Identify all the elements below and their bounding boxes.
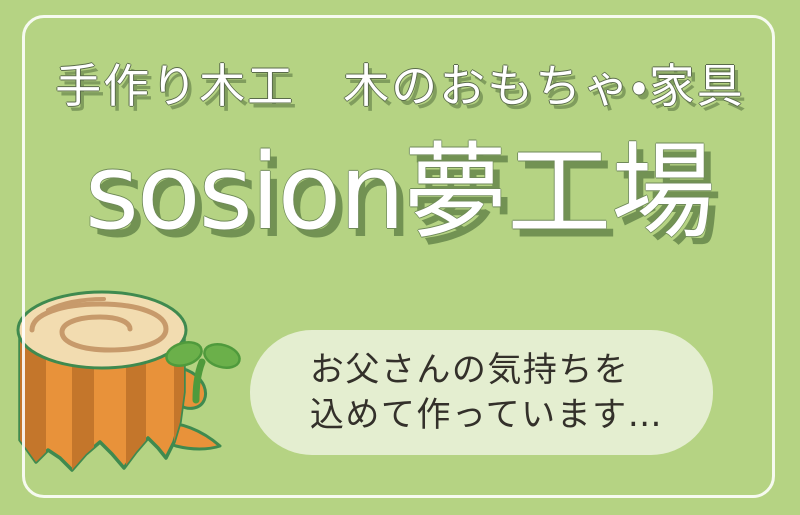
title-kanji-part: 夢工場 xyxy=(403,131,715,253)
banner-root: 手作り木工 木のおもちゃ・家具 sosion夢工場 xyxy=(0,0,800,515)
title-latin-part: sosion xyxy=(85,131,403,253)
stump-top-rings xyxy=(18,292,186,368)
speech-bubble: お父さんの気持ちを 込めて作っています… xyxy=(250,330,713,455)
speech-bubble-text: お父さんの気持ちを 込めて作っています… xyxy=(300,348,663,436)
tree-stump-illustration xyxy=(8,272,258,502)
banner-subtitle: 手作り木工 木のおもちゃ・家具 xyxy=(0,62,800,110)
banner-title: sosion夢工場 xyxy=(0,140,800,244)
